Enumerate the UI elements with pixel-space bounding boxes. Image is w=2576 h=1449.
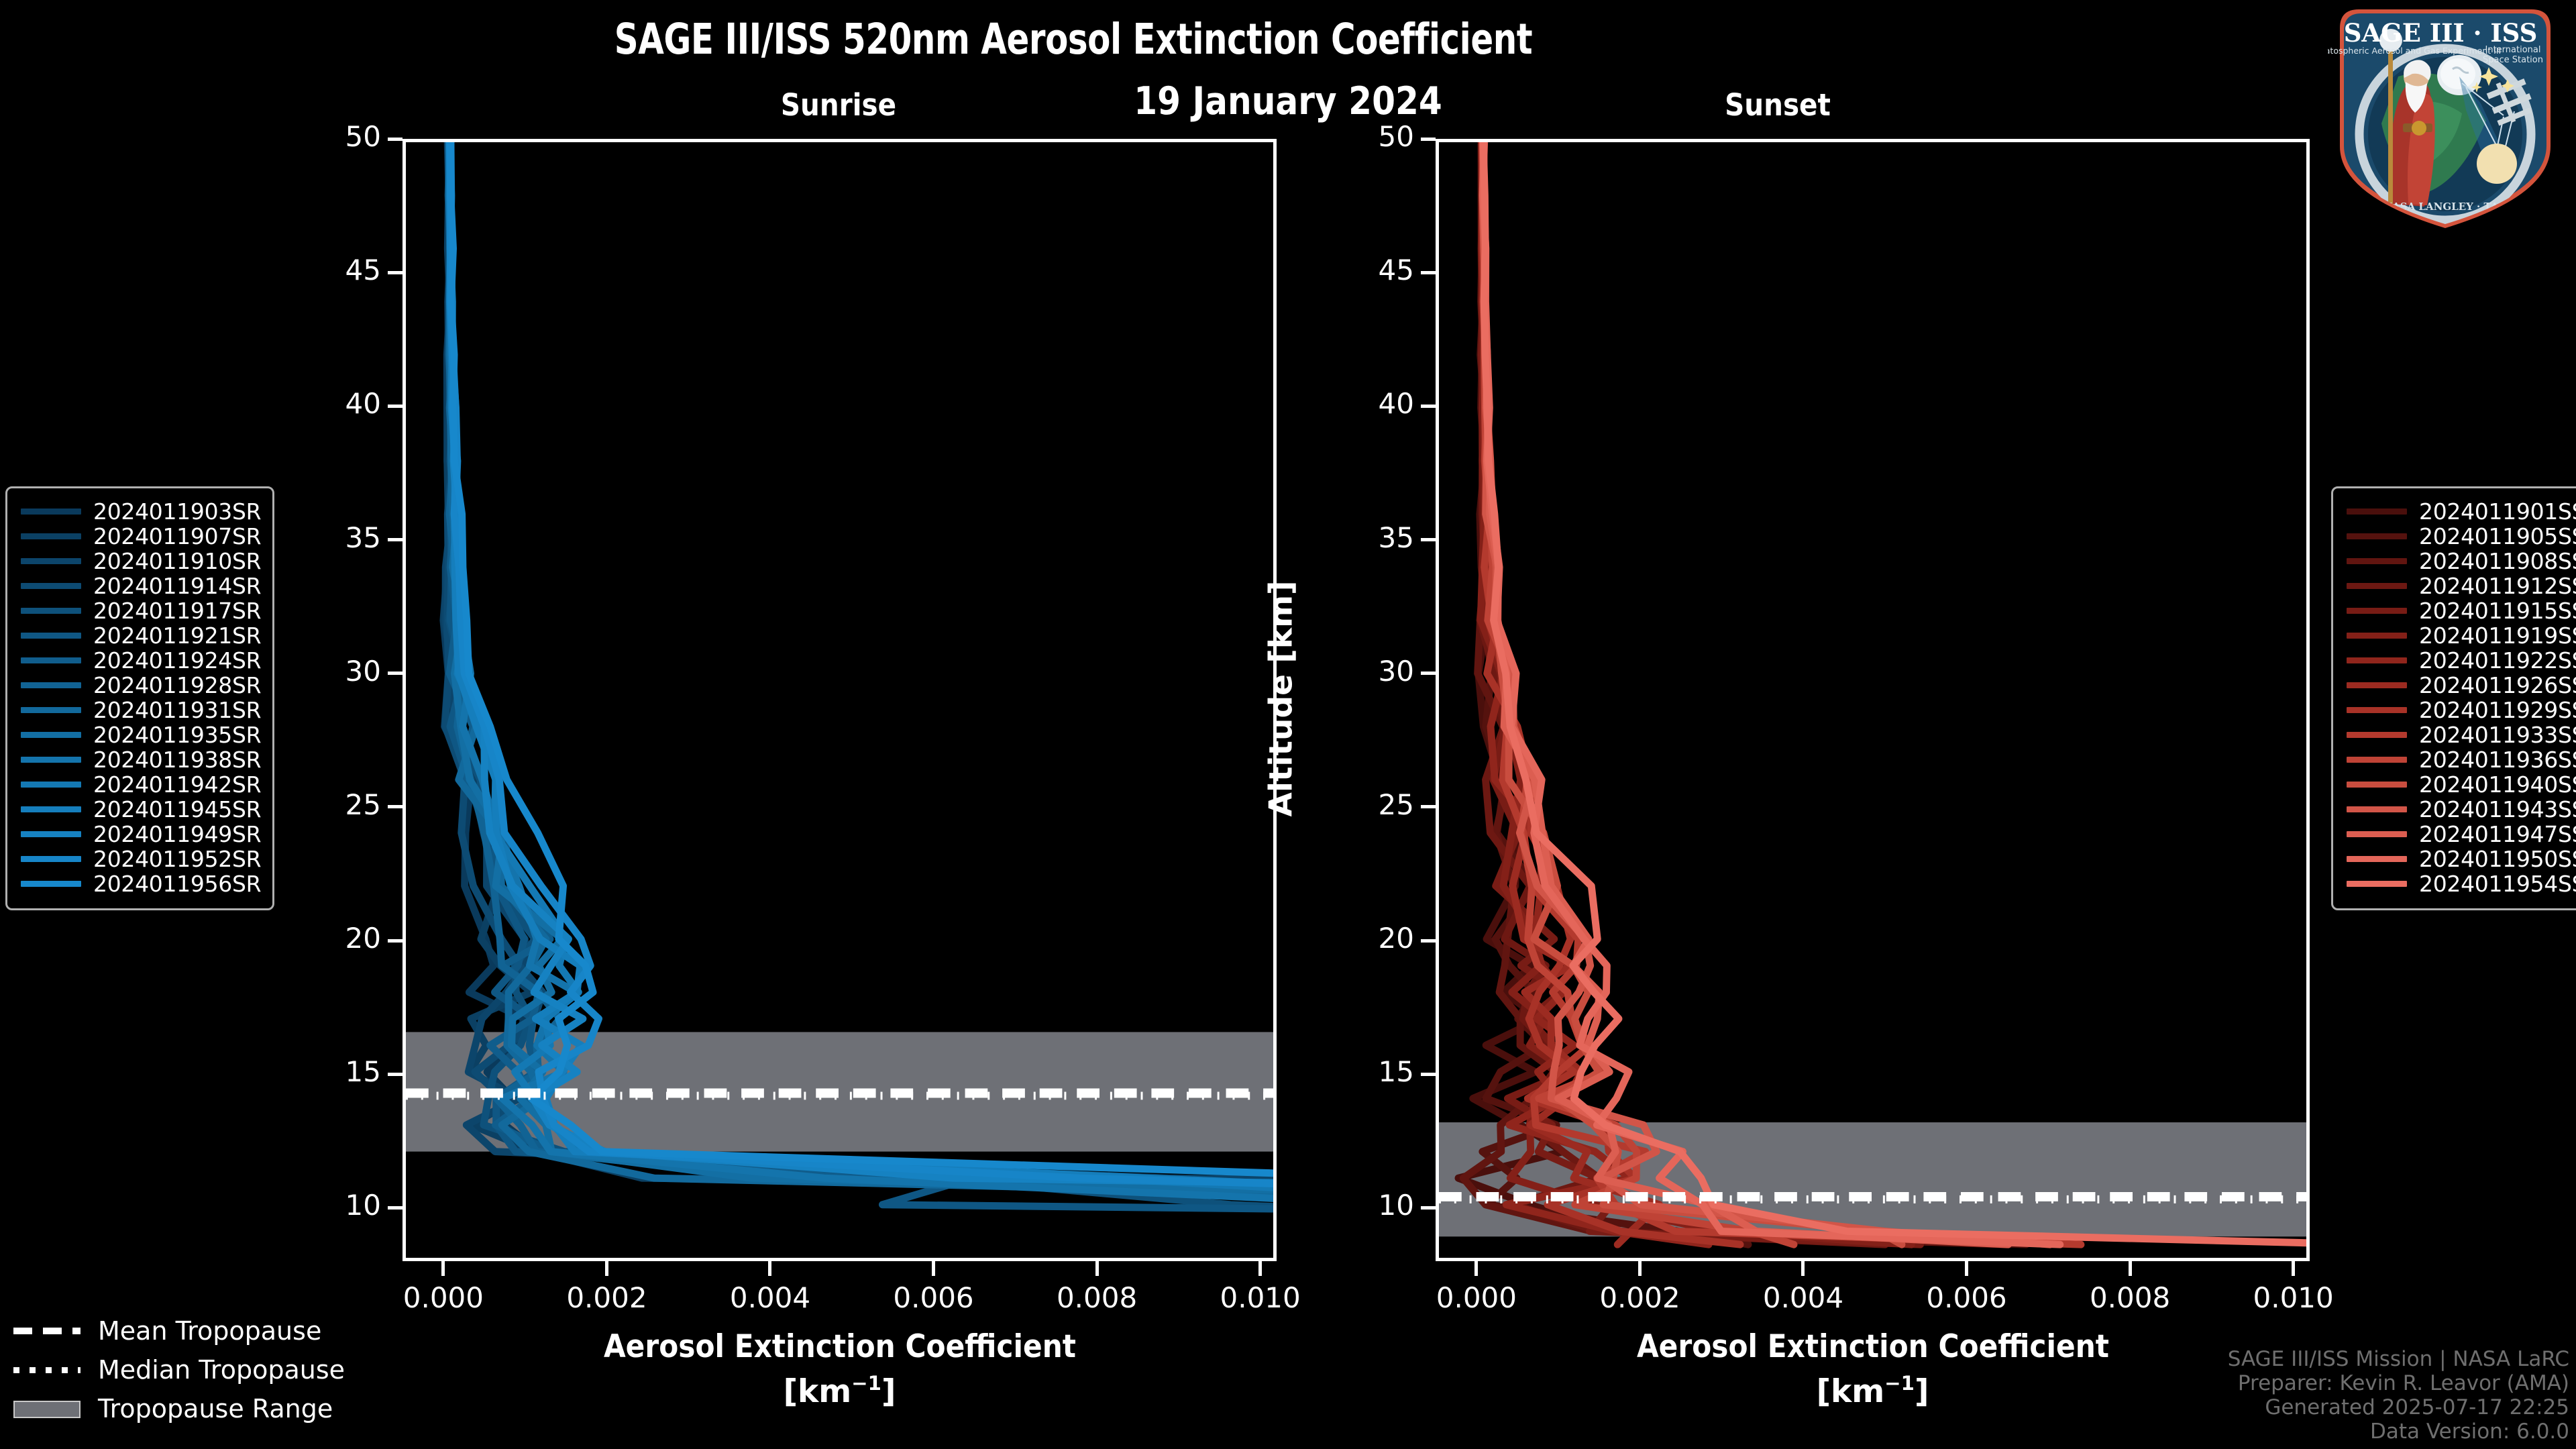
credits-line-mission: SAGE III/ISS Mission | NASA LaRC <box>2228 1347 2569 1371</box>
legend-color-swatch <box>21 707 81 713</box>
sunset-xaxis-title: Aerosol Extinction Coefficient <box>1571 1328 2175 1365</box>
mean-tropopause-label: Mean Tropopause <box>98 1316 321 1346</box>
sunrise-legend-item: 2024011945SR <box>21 797 259 822</box>
legend-color-swatch <box>2347 757 2407 763</box>
sunrise-legend-item: 2024011914SR <box>21 574 259 598</box>
sunset-ytick-label: 25 <box>1313 788 1414 821</box>
legend-entry-label: 2024011952SR <box>93 846 261 872</box>
sunset-legend-item: 2024011929SS <box>2347 698 2576 722</box>
sunset-legend-item: 2024011919SS <box>2347 623 2576 648</box>
legend-color-swatch <box>2347 657 2407 663</box>
sunset-ytick-label: 50 <box>1313 120 1414 153</box>
filled-box-icon <box>7 1401 87 1417</box>
legend-color-swatch <box>21 508 81 515</box>
sunrise-ytick-mark <box>388 138 402 141</box>
date-subtitle: 19 January 2024 <box>993 79 1583 123</box>
legend-entry-label: 2024011931SR <box>93 697 261 723</box>
sunset-series-legend: 2024011901SS2024011905SS2024011908SS2024… <box>2331 486 2576 910</box>
sunrise-plot-canvas <box>406 142 1273 1258</box>
sunrise-legend-item: 2024011931SR <box>21 698 259 722</box>
sunrise-panel-title: Sunrise <box>627 87 1050 123</box>
legend-color-swatch <box>2347 583 2407 589</box>
sunrise-xtick-label: 0.004 <box>686 1281 854 1314</box>
sunrise-ytick-label: 15 <box>280 1055 381 1088</box>
sunrise-xaxis-unit: [km−1] <box>639 1372 1041 1410</box>
credits-line-version: Data Version: 6.0.0 <box>2228 1419 2569 1444</box>
legend-color-swatch <box>21 782 81 788</box>
tropopause-range-label: Tropopause Range <box>98 1394 333 1424</box>
sunset-xtick-mark <box>2129 1261 2132 1276</box>
sunrise-xtick-mark <box>441 1261 445 1276</box>
legend-entry-label: 2024011945SR <box>93 796 261 822</box>
sunrise-xtick-label: 0.006 <box>850 1281 1018 1314</box>
legend-entry-label: 2024011928SR <box>93 672 261 698</box>
sunrise-legend-item: 2024011952SR <box>21 847 259 871</box>
legend-entry-label: 2024011942SR <box>93 771 261 798</box>
extinction-profile-line <box>1483 142 2081 1244</box>
sunset-legend-item: 2024011936SS <box>2347 747 2576 772</box>
sunrise-plot-panel <box>402 139 1277 1261</box>
sunset-ytick-label: 40 <box>1313 387 1414 420</box>
sunset-legend-item: 2024011905SS <box>2347 524 2576 549</box>
dotted-line-icon <box>7 1362 87 1378</box>
sunrise-ytick-label: 50 <box>280 120 381 153</box>
legend-color-swatch <box>21 583 81 589</box>
sunrise-xtick-mark <box>1095 1261 1099 1276</box>
sunrise-legend-item: 2024011924SR <box>21 648 259 673</box>
legend-color-swatch <box>2347 881 2407 887</box>
sunset-ytick-mark <box>1421 1206 1436 1210</box>
sunset-legend-item: 2024011912SS <box>2347 574 2576 598</box>
sunset-legend-item: 2024011943SS <box>2347 797 2576 822</box>
sunrise-ytick-mark <box>388 672 402 675</box>
legend-color-swatch <box>21 682 81 688</box>
legend-entry-label: 2024011919SS <box>2419 623 2576 649</box>
legend-color-swatch <box>2347 707 2407 713</box>
sunset-ytick-mark <box>1421 271 1436 274</box>
sunrise-legend-item: 2024011956SR <box>21 871 259 896</box>
sunset-ytick-label: 10 <box>1313 1189 1414 1222</box>
legend-color-swatch <box>2347 732 2407 738</box>
sunrise-ytick-mark <box>388 538 402 541</box>
sunset-ytick-mark <box>1421 939 1436 943</box>
sunrise-xtick-mark <box>605 1261 608 1276</box>
sunrise-xaxis-title: Aerosol Extinction Coefficient <box>538 1328 1142 1365</box>
sunset-panel-title: Sunset <box>1566 87 1989 123</box>
legend-color-swatch <box>2347 558 2407 564</box>
sunrise-xtick-label: 0.008 <box>1013 1281 1181 1314</box>
legend-item-median-tropopause: Median Tropopause <box>7 1350 356 1389</box>
sunset-legend-item: 2024011933SS <box>2347 722 2576 747</box>
sunrise-ytick-mark <box>388 271 402 274</box>
legend-entry-label: 2024011938SR <box>93 747 261 773</box>
credits-line-preparer: Preparer: Kevin R. Leavor (AMA) <box>2228 1371 2569 1395</box>
logo-title: SAGE III · ISS <box>2344 18 2538 48</box>
legend-entry-label: 2024011908SS <box>2419 548 2576 574</box>
sage-iii-iss-mission-logo: BALL · NASA LANGLEY · TAS-I · ESA SAGE I… <box>2328 3 2563 231</box>
sunset-xtick-mark <box>2292 1261 2295 1276</box>
sunrise-ytick-label: 10 <box>280 1189 381 1222</box>
sunset-legend-item: 2024011940SS <box>2347 772 2576 797</box>
sunset-xtick-mark <box>1965 1261 1968 1276</box>
extinction-profile-line <box>1483 142 2059 1244</box>
sunrise-legend-item: 2024011949SR <box>21 822 259 847</box>
sunrise-series-legend: 2024011903SR2024011907SR2024011910SR2024… <box>5 486 274 910</box>
sunset-legend-item: 2024011950SS <box>2347 847 2576 871</box>
legend-item-mean-tropopause: Mean Tropopause <box>7 1311 356 1350</box>
legend-color-swatch <box>21 831 81 837</box>
sunset-ytick-mark <box>1421 805 1436 808</box>
legend-entry-label: 2024011921SR <box>93 623 261 649</box>
sunset-xtick-label: 0.008 <box>2046 1281 2214 1314</box>
sunset-xtick-mark <box>1474 1261 1478 1276</box>
sunrise-xtick-label: 0.000 <box>360 1281 527 1314</box>
legend-entry-label: 2024011933SS <box>2419 722 2576 748</box>
legend-color-swatch <box>2347 806 2407 812</box>
legend-entry-label: 2024011917SR <box>93 598 261 624</box>
sunset-xaxis-unit: [km−1] <box>1672 1372 2074 1410</box>
sunset-xtick-label: 0.010 <box>2210 1281 2377 1314</box>
legend-entry-label: 2024011949SR <box>93 821 261 847</box>
logo-subtitle-left: Stratospheric Aerosol and Gas Experiment… <box>2328 46 2501 56</box>
median-tropopause-label: Median Tropopause <box>98 1355 345 1385</box>
sunset-plot-canvas <box>1439 142 2306 1258</box>
sunset-ytick-mark <box>1421 138 1436 141</box>
sunset-legend-item: 2024011926SS <box>2347 673 2576 698</box>
legend-entry-label: 2024011924SR <box>93 647 261 674</box>
legend-color-swatch <box>21 533 81 539</box>
sunset-xtick-label: 0.004 <box>1719 1281 1887 1314</box>
sunset-legend-item: 2024011915SS <box>2347 598 2576 623</box>
extinction-profile-line <box>1483 142 1794 1244</box>
legend-entry-label: 2024011915SS <box>2419 598 2576 624</box>
sunrise-ytick-label: 45 <box>280 254 381 286</box>
sunrise-ytick-mark <box>388 405 402 408</box>
legend-entry-label: 2024011922SS <box>2419 647 2576 674</box>
sunrise-xtick-label: 0.002 <box>523 1281 690 1314</box>
sunrise-ytick-mark <box>388 939 402 943</box>
legend-entry-label: 2024011929SS <box>2419 697 2576 723</box>
sunrise-legend-item: 2024011910SR <box>21 549 259 574</box>
sunrise-xtick-mark <box>768 1261 771 1276</box>
sunset-legend-item: 2024011901SS <box>2347 499 2576 524</box>
legend-entry-label: 2024011940SS <box>2419 771 2576 798</box>
sunrise-xtick-label: 0.010 <box>1177 1281 1344 1314</box>
sunset-yaxis-title: Altitude [km] <box>1263 564 1300 833</box>
sunrise-legend-item: 2024011938SR <box>21 747 259 772</box>
extinction-profile-line <box>1483 142 2306 1244</box>
legend-entry-label: 2024011903SR <box>93 498 261 525</box>
legend-item-tropopause-range: Tropopause Range <box>7 1389 356 1428</box>
sunrise-xtick-mark <box>1258 1261 1262 1276</box>
credits-line-generated: Generated 2025-07-17 22:25 <box>2228 1395 2569 1419</box>
sunset-plot-panel <box>1436 139 2310 1261</box>
legend-color-swatch <box>21 732 81 738</box>
sunset-legend-item: 2024011947SS <box>2347 822 2576 847</box>
sunrise-ytick-label: 40 <box>280 387 381 420</box>
legend-color-swatch <box>21 881 81 887</box>
legend-entry-label: 2024011936SS <box>2419 747 2576 773</box>
sunrise-legend-item: 2024011903SR <box>21 499 259 524</box>
sunrise-legend-item: 2024011907SR <box>21 524 259 549</box>
legend-color-swatch <box>2347 508 2407 515</box>
sunrise-legend-item: 2024011935SR <box>21 722 259 747</box>
sunrise-ytick-mark <box>388 1073 402 1076</box>
credits-block: SAGE III/ISS Mission | NASA LaRC Prepare… <box>2228 1347 2569 1444</box>
sunset-ytick-label: 20 <box>1313 922 1414 955</box>
sunset-legend-item: 2024011922SS <box>2347 648 2576 673</box>
sunrise-ytick-mark <box>388 805 402 808</box>
sunrise-ytick-mark <box>388 1206 402 1210</box>
sunset-legend-item: 2024011908SS <box>2347 549 2576 574</box>
dashed-line-icon <box>7 1323 87 1339</box>
sunset-xtick-label: 0.006 <box>1883 1281 2051 1314</box>
sunrise-ytick-label: 35 <box>280 521 381 554</box>
legend-color-swatch <box>2347 831 2407 837</box>
legend-entry-label: 2024011914SR <box>93 573 261 599</box>
sunrise-ytick-label: 20 <box>280 922 381 955</box>
legend-entry-label: 2024011910SR <box>93 548 261 574</box>
page-title: SAGE III/ISS 520nm Aerosol Extinction Co… <box>129 15 2018 64</box>
legend-color-swatch <box>2347 682 2407 688</box>
sunrise-legend-item: 2024011942SR <box>21 772 259 797</box>
legend-color-swatch <box>21 757 81 763</box>
legend-color-swatch <box>2347 633 2407 639</box>
legend-color-swatch <box>2347 782 2407 788</box>
sunset-xtick-label: 0.000 <box>1393 1281 1560 1314</box>
svg-text:Space Station: Space Station <box>2483 55 2543 65</box>
legend-color-swatch <box>2347 856 2407 862</box>
legend-entry-label: 2024011947SS <box>2419 821 2576 847</box>
sunset-ytick-mark <box>1421 538 1436 541</box>
sunrise-legend-item: 2024011917SR <box>21 598 259 623</box>
legend-color-swatch <box>21 558 81 564</box>
legend-color-swatch <box>21 633 81 639</box>
legend-color-swatch <box>21 856 81 862</box>
legend-entry-label: 2024011912SS <box>2419 573 2576 599</box>
sunset-xtick-label: 0.002 <box>1556 1281 1723 1314</box>
svg-text:International: International <box>2485 45 2541 55</box>
sunset-xtick-mark <box>1638 1261 1642 1276</box>
tropopause-legend: Mean Tropopause Median Tropopause Tropop… <box>7 1311 356 1428</box>
sunset-ytick-mark <box>1421 1073 1436 1076</box>
legend-entry-label: 2024011926SS <box>2419 672 2576 698</box>
legend-entry-label: 2024011943SS <box>2419 796 2576 822</box>
sunrise-xtick-mark <box>932 1261 935 1276</box>
sunrise-ytick-label: 30 <box>280 655 381 688</box>
sunset-ytick-mark <box>1421 672 1436 675</box>
legend-entry-label: 2024011901SS <box>2419 498 2576 525</box>
legend-color-swatch <box>21 806 81 812</box>
legend-entry-label: 2024011956SR <box>93 871 261 897</box>
legend-color-swatch <box>2347 608 2407 614</box>
sunset-ytick-label: 15 <box>1313 1055 1414 1088</box>
sunrise-legend-item: 2024011921SR <box>21 623 259 648</box>
sunset-ytick-label: 45 <box>1313 254 1414 286</box>
legend-entry-label: 2024011907SR <box>93 523 261 549</box>
legend-entry-label: 2024011905SS <box>2419 523 2576 549</box>
legend-color-swatch <box>21 657 81 663</box>
legend-color-swatch <box>2347 533 2407 539</box>
sunset-xtick-mark <box>1801 1261 1805 1276</box>
sunrise-ytick-label: 25 <box>280 788 381 821</box>
sunrise-legend-item: 2024011928SR <box>21 673 259 698</box>
legend-entry-label: 2024011954SS <box>2419 871 2576 897</box>
legend-color-swatch <box>21 608 81 614</box>
legend-entry-label: 2024011950SS <box>2419 846 2576 872</box>
sunset-ytick-mark <box>1421 405 1436 408</box>
sunset-ytick-label: 35 <box>1313 521 1414 554</box>
legend-entry-label: 2024011935SR <box>93 722 261 748</box>
svg-text:BALL · NASA LANGLEY · TAS-I ·: BALL · NASA LANGLEY · TAS-I · ESA <box>2342 201 2548 213</box>
sunset-legend-item: 2024011954SS <box>2347 871 2576 896</box>
sunset-ytick-label: 30 <box>1313 655 1414 688</box>
